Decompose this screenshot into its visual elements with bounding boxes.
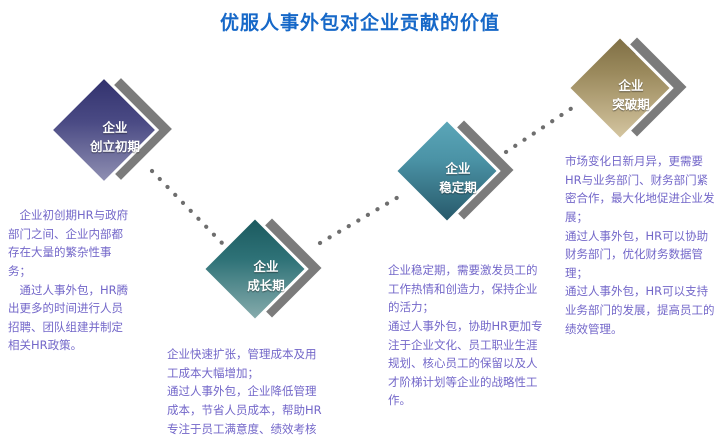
description-stable: 企业稳定期，需要激发员工的工作热情和创造力，保持企业的活力； 通过人事外包，协助…: [388, 261, 548, 410]
description-breakthrough: 市场变化日新月异，更需要HR与业务部门、财务部门紧密合作，最大化地促进企业发展；…: [565, 152, 715, 338]
description-paragraph: 企业快速扩张，管理成本及用工成本大幅增加；: [167, 345, 325, 382]
stage-label-growth: 企业 成长期: [231, 242, 301, 312]
description-paragraph: 通过人事外包，企业降低管理成本，节省人员成本，帮助HR专注于员工满意度、绩效考核…: [167, 382, 325, 435]
stage-label-line2: 稳定期: [439, 179, 477, 198]
connector-growth-stable: [320, 196, 400, 243]
connector-startup-growth: [152, 171, 222, 243]
description-paragraph: 企业初创期HR与政府部门之间、企业内部都存在大量的繁杂性事务；: [8, 206, 130, 281]
connector-stable-breakthrough: [506, 104, 578, 152]
description-paragraph: 企业稳定期，需要激发员工的工作热情和创造力，保持企业的活力；: [388, 261, 548, 317]
stage-node-stable[interactable]: 企业 稳定期: [412, 136, 482, 206]
stage-label-line1: 企业: [445, 160, 470, 179]
stage-label-line2: 成长期: [247, 277, 285, 296]
description-paragraph: 通过人事外包，协助HR更加专注于企业文化、员工职业生涯规划、核心员工的保留以及人…: [388, 317, 548, 410]
description-growth: 企业快速扩张，管理成本及用工成本大幅增加； 通过人事外包，企业降低管理成本，节省…: [167, 345, 325, 435]
stage-label-startup: 企业 创立初期: [79, 102, 151, 174]
stage-node-startup[interactable]: 企业 创立初期: [68, 94, 140, 166]
description-paragraph: 通过人事外包，HR可以协助财务部门，优化财务数据管理；: [565, 227, 715, 283]
stage-node-growth[interactable]: 企业 成长期: [220, 234, 290, 304]
stage-label-stable: 企业 稳定期: [423, 144, 493, 214]
stage-label-line1: 企业: [102, 119, 127, 138]
stage-node-breakthrough[interactable]: 企业 突破期: [585, 53, 655, 123]
stage-label-line1: 企业: [618, 77, 643, 96]
stage-label-line1: 企业: [253, 258, 278, 277]
stage-label-line2: 突破期: [612, 96, 650, 115]
description-paragraph: 通过人事外包，HR腾出更多的时间进行人员招聘、团队组建并制定相关HR政策。: [8, 281, 130, 356]
description-paragraph: 通过人事外包，HR可以支持业务部门的发展，提高员工的绩效管理。: [565, 282, 715, 338]
diagram-canvas: 优服人事外包对企业贡献的价值 企业 创立初期 企业 成长期 企业 稳定期: [0, 0, 720, 435]
description-startup: 企业初创期HR与政府部门之间、企业内部都存在大量的繁杂性事务； 通过人事外包，H…: [8, 206, 130, 355]
stage-label-breakthrough: 企业 突破期: [596, 61, 666, 131]
description-paragraph: 市场变化日新月异，更需要HR与业务部门、财务部门紧密合作，最大化地促进企业发展；: [565, 152, 715, 227]
stage-label-line2: 创立初期: [90, 138, 140, 157]
